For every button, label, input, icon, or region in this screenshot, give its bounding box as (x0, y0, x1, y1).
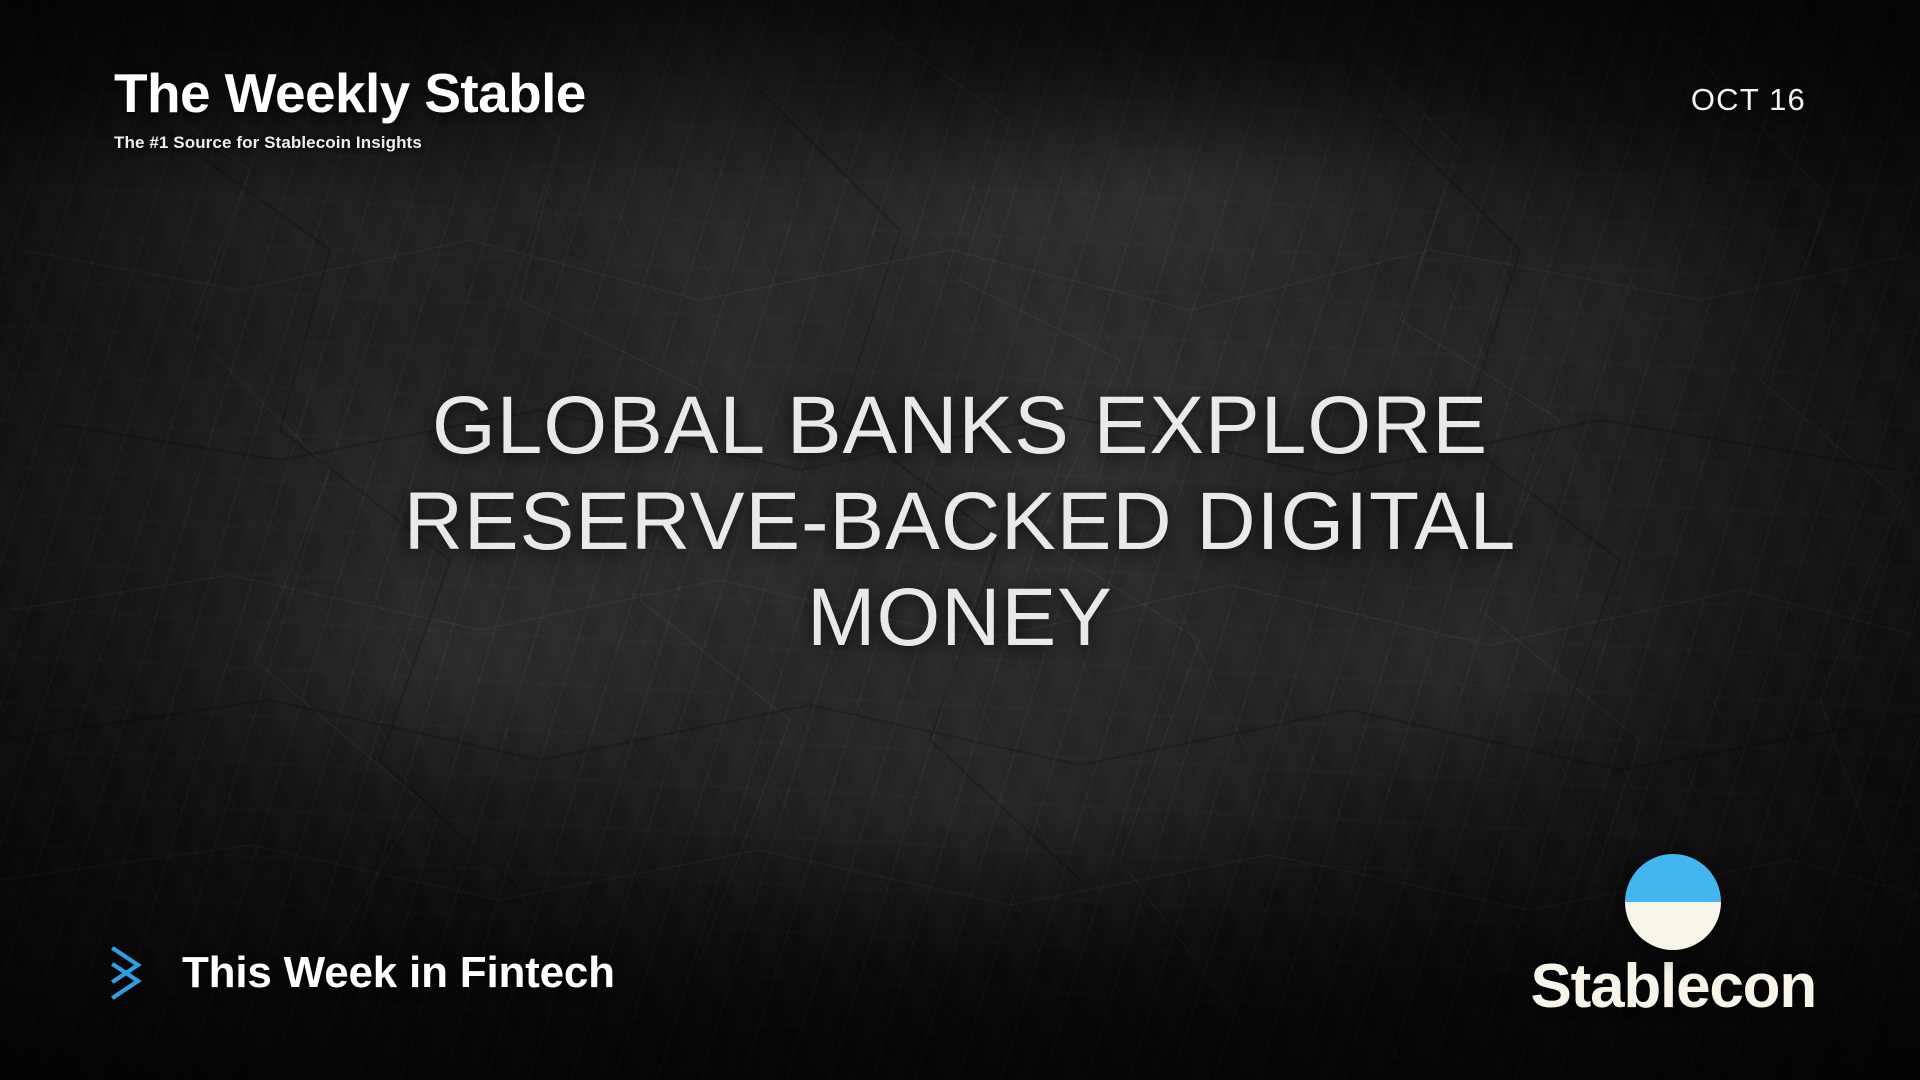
masthead: The Weekly Stable The #1 Source for Stab… (114, 66, 586, 153)
publisher-brand-lockup: This Week in Fintech (108, 944, 615, 1002)
sponsor-brand-name: Stablecon (1531, 956, 1817, 1018)
newsletter-cover-slide: The Weekly Stable The #1 Source for Stab… (0, 0, 1920, 1080)
masthead-tagline: The #1 Source for Stablecoin Insights (114, 133, 586, 153)
slide-footer: This Week in Fintech Stablecon (0, 820, 1920, 1080)
publisher-brand-name: This Week in Fintech (182, 948, 615, 998)
logo-bottom-half (1625, 902, 1721, 950)
sponsor-brand-lockup: Stablecon (1531, 854, 1817, 1018)
headline-line-2: RESERVE-BACKED DIGITAL (150, 474, 1770, 570)
double-chevron-right-icon (108, 944, 154, 1002)
headline-line-3: MONEY (150, 570, 1770, 666)
headline-line-1: GLOBAL BANKS EXPLORE (150, 378, 1770, 474)
masthead-title: The Weekly Stable (114, 66, 586, 121)
slide-header: The Weekly Stable The #1 Source for Stab… (0, 0, 1920, 190)
headline-block: GLOBAL BANKS EXPLORE RESERVE-BACKED DIGI… (0, 378, 1920, 666)
logo-top-half (1625, 854, 1721, 902)
issue-date: OCT 16 (1691, 82, 1806, 118)
half-circle-logo-icon (1625, 854, 1721, 950)
